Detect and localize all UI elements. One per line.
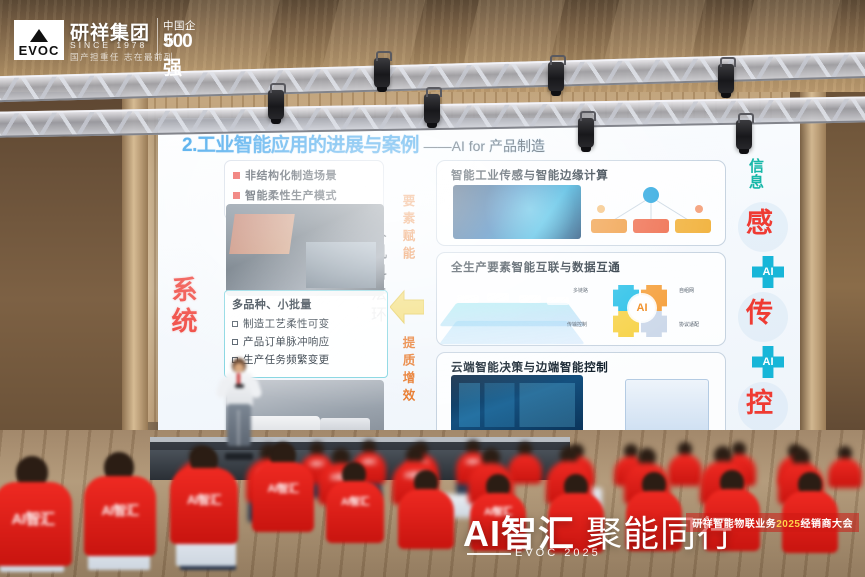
gear-label: 传输控制 xyxy=(567,321,587,328)
event-rule xyxy=(467,553,511,555)
gear-label: 协议适配 xyxy=(679,321,699,328)
square-bullet-icon xyxy=(233,172,240,179)
stage-light xyxy=(374,58,390,88)
checkbox-icon xyxy=(232,339,238,345)
logo-divider xyxy=(157,18,158,60)
conference-photo: 2.工业智能应用的进展与案例 ——AI for 产品制造 系统 人机料法环 要素… xyxy=(0,0,865,577)
stage-light xyxy=(548,62,564,92)
vertical-label-improve: 提质增效 xyxy=(401,336,414,406)
evoc-corner-logo: EVOC 研祥集团 SINCE 1978 国产担重任 志在最前列 中国企业 50… xyxy=(14,14,204,62)
ai-plus-icon: AI xyxy=(752,256,784,288)
information-chain-rail: 信息 感 AI 传 AI 控 xyxy=(744,158,792,444)
spec-item: 制造工艺柔性可变 xyxy=(232,316,380,331)
bullet-item: 智能柔性生产模式 xyxy=(233,187,375,203)
red-tshirt xyxy=(668,454,702,486)
node-tree-diagram xyxy=(587,183,715,241)
vertical-label-empower: 要素赋能 xyxy=(401,194,414,264)
shirt-print: AI智汇 xyxy=(326,498,384,508)
factory-photo xyxy=(226,204,384,296)
company-since: SINCE 1978 xyxy=(70,40,147,50)
rail-step-sense: 感 xyxy=(746,210,773,237)
stage-light xyxy=(424,94,440,124)
stage-light xyxy=(578,118,594,148)
bullet-item: 非结构化制造场景 xyxy=(233,167,375,183)
mesh-layer xyxy=(439,321,585,344)
gear-label: 自组网 xyxy=(679,287,694,294)
gear-label: 多链路 xyxy=(573,287,588,294)
box-title: 智能工业传感与智能边缘计算 xyxy=(451,167,608,183)
gear-center-label: AI xyxy=(629,295,655,321)
badge-prefix: 研祥智能物联业务 xyxy=(692,519,776,530)
mesh-network-illustration xyxy=(449,279,579,341)
shirt-print: AI智汇 xyxy=(84,504,156,517)
shirt-print: AI智汇 xyxy=(170,494,238,506)
ai-gear-diagram: AI 多链路 自组网 传输控制 协议适配 xyxy=(567,273,717,343)
badge-year: 2025 xyxy=(776,519,800,530)
event-title-overlay: AI智汇 聚能同行 EVOC 2025 研祥智能物联业务2025经销商大会 xyxy=(455,495,865,577)
interconnect-box: 全生产要素智能互联与数据互通 AI 多链路 自组网 传输控制 协议适配 xyxy=(436,252,726,346)
rail-info-label: 信息 xyxy=(748,158,763,190)
ai-plus-icon: AI xyxy=(752,346,784,378)
sensing-edge-box: 智能工业传感与智能边缘计算 xyxy=(436,160,726,246)
wall-pillar-left xyxy=(122,92,148,437)
stage-light xyxy=(268,90,284,120)
slide-title: 2.工业智能应用的进展与案例 ——AI for 产品制造 xyxy=(182,130,545,157)
red-tshirt xyxy=(398,489,454,549)
wall-left-panel xyxy=(0,92,122,437)
vertical-label-system: 系统 xyxy=(170,276,196,338)
sensor-illustration xyxy=(453,185,581,239)
event-badge: 研祥智能物联业务2025经销商大会 xyxy=(686,513,859,532)
spec-label: 产品订单脉冲响应 xyxy=(243,334,329,349)
mesh-chip xyxy=(487,293,509,301)
left-arrow-icon xyxy=(390,288,424,326)
shirt-print: AI智汇 xyxy=(252,484,314,495)
badge-suffix: 经销商大会 xyxy=(801,519,854,530)
company-slogan: 国产担重任 志在最前列 xyxy=(70,51,174,63)
spec-heading: 多品种、小批量 xyxy=(232,296,380,312)
box-title: 云端智能决策与边端智能控制 xyxy=(451,359,608,375)
shirt-print: AI智汇 xyxy=(0,512,72,527)
award-rank: 500强 xyxy=(163,31,204,80)
red-tshirt xyxy=(252,462,314,532)
mesh-chip xyxy=(547,297,569,305)
evoc-wordmark: EVOC xyxy=(19,43,60,58)
red-tshirt xyxy=(828,458,862,488)
red-tshirt xyxy=(326,481,384,543)
slide-title-main: 2.工业智能应用的进展与案例 xyxy=(182,135,419,156)
microphone xyxy=(235,384,244,388)
bullet-label: 非结构化制造场景 xyxy=(245,167,337,183)
rail-step-transmit: 传 xyxy=(746,300,773,327)
wall-pillar-right xyxy=(800,92,826,437)
event-subtitle: EVOC 2025 xyxy=(515,547,601,559)
spec-label: 制造工艺柔性可变 xyxy=(243,316,329,331)
star-icon xyxy=(30,29,48,42)
mesh-chip xyxy=(519,295,541,303)
bullet-label: 智能柔性生产模式 xyxy=(245,187,337,203)
slide-title-sub: ——AI for 产品制造 xyxy=(424,138,545,154)
mesh-chip xyxy=(457,295,479,303)
square-bullet-icon xyxy=(233,192,240,199)
rail-step-control: 控 xyxy=(746,390,773,417)
stage-light xyxy=(736,120,752,150)
spec-item: 产品订单脉冲响应 xyxy=(232,334,380,349)
evoc-logo-mark: EVOC xyxy=(14,20,64,60)
checkbox-icon xyxy=(232,321,238,327)
stage-light xyxy=(718,64,734,94)
